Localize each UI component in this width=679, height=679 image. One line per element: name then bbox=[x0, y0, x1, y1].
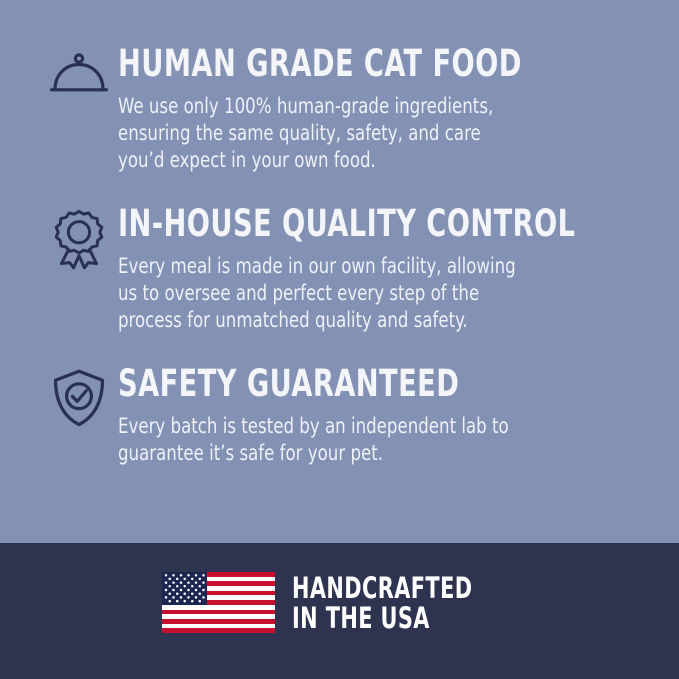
feature-body: Every meal is made in our own facility, … bbox=[118, 253, 532, 334]
feature-text: HUMAN GRADE CAT FOOD We use only 100% hu… bbox=[118, 44, 639, 174]
feature-body: We use only 100% human-grade ingredients… bbox=[118, 93, 532, 174]
footer-line-1: HANDCRAFTED bbox=[292, 573, 472, 603]
footer-band: HANDCRAFTED IN THE USA bbox=[0, 543, 679, 679]
feature-text: IN-HOUSE QUALITY CONTROL Every meal is m… bbox=[118, 204, 676, 334]
features-list: HUMAN GRADE CAT FOOD We use only 100% hu… bbox=[0, 0, 679, 543]
award-ribbon-icon bbox=[40, 204, 118, 270]
cloche-icon bbox=[40, 44, 118, 100]
feature-title: HUMAN GRADE CAT FOOD bbox=[118, 44, 545, 84]
feature-text: SAFETY GUARANTEED Every batch is tested … bbox=[118, 364, 639, 467]
feature-body: Every batch is tested by an independent … bbox=[118, 413, 532, 467]
shield-check-icon bbox=[40, 364, 118, 428]
handcrafted-in-the-usa-label: HANDCRAFTED IN THE USA bbox=[292, 573, 472, 633]
footer-line-2: IN THE USA bbox=[292, 603, 472, 633]
flag-stars bbox=[162, 572, 207, 605]
feature-safety-guaranteed: SAFETY GUARANTEED Every batch is tested … bbox=[40, 364, 639, 467]
feature-in-house-quality-control: IN-HOUSE QUALITY CONTROL Every meal is m… bbox=[40, 204, 639, 334]
feature-title: IN-HOUSE QUALITY CONTROL bbox=[118, 204, 575, 244]
promo-poster: HUMAN GRADE CAT FOOD We use only 100% hu… bbox=[0, 0, 679, 679]
feature-title: SAFETY GUARANTEED bbox=[118, 364, 545, 404]
footer-content: HANDCRAFTED IN THE USA bbox=[162, 572, 518, 633]
feature-human-grade-cat-food: HUMAN GRADE CAT FOOD We use only 100% hu… bbox=[40, 44, 639, 174]
usa-flag-icon bbox=[162, 572, 275, 633]
